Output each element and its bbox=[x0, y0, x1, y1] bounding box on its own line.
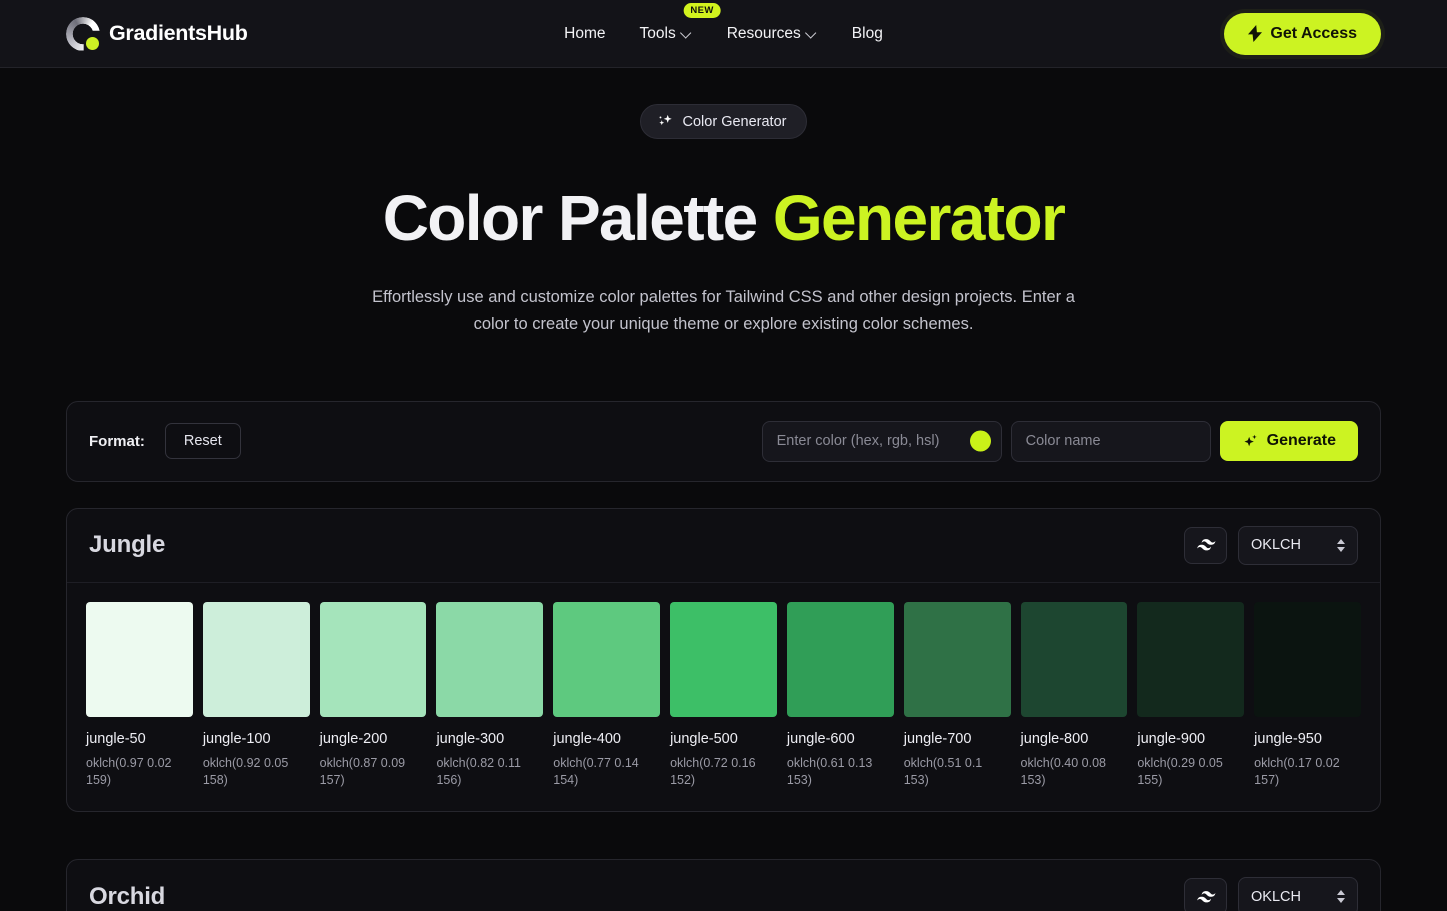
swatch-value: oklch(0.77 0.14 154) bbox=[553, 755, 660, 789]
format-select-jungle[interactable]: OKLCH bbox=[1238, 526, 1358, 565]
color-input-group bbox=[762, 421, 1002, 462]
generate-button[interactable]: Generate bbox=[1220, 421, 1358, 461]
bolt-icon bbox=[1248, 25, 1262, 42]
main-navigation: Home Tools NEW Resources Blog bbox=[564, 19, 883, 49]
chevron-down-icon bbox=[682, 29, 693, 40]
swatch-name: jungle-50 bbox=[86, 731, 193, 747]
swatch-value: oklch(0.87 0.09 157) bbox=[320, 755, 427, 789]
swatch-name: jungle-200 bbox=[320, 731, 427, 747]
swatch-cell[interactable]: jungle-50oklch(0.97 0.02 159) bbox=[86, 602, 193, 789]
swatch-color-chip[interactable] bbox=[320, 602, 427, 717]
swatch-color-chip[interactable] bbox=[1254, 602, 1361, 717]
page-subtitle: Effortlessly use and customize color pal… bbox=[359, 284, 1089, 337]
swatch-value: oklch(0.72 0.16 152) bbox=[670, 755, 777, 789]
control-bar: Format: Reset Generate bbox=[66, 401, 1381, 482]
swatch-cell[interactable]: jungle-900oklch(0.29 0.05 155) bbox=[1137, 602, 1244, 789]
swatch-name: jungle-100 bbox=[203, 731, 310, 747]
swatch-color-chip[interactable] bbox=[436, 602, 543, 717]
tailwind-icon bbox=[1196, 538, 1216, 552]
chevron-updown-icon bbox=[1337, 539, 1345, 552]
control-bar-right: Generate bbox=[762, 421, 1358, 462]
palette-card-orchid: Orchid OKLCH bbox=[66, 859, 1381, 911]
palette-actions: OKLCH bbox=[1184, 526, 1358, 565]
reset-button[interactable]: Reset bbox=[165, 423, 241, 459]
swatch-color-chip[interactable] bbox=[553, 602, 660, 717]
swatch-value: oklch(0.92 0.05 158) bbox=[203, 755, 310, 789]
page-title-accent: Generator bbox=[773, 182, 1064, 254]
palette-card-jungle: Jungle OKLCH jungle-50oklch(0.97 0.02 15… bbox=[66, 508, 1381, 812]
swatch-value: oklch(0.29 0.05 155) bbox=[1137, 755, 1244, 789]
get-access-button[interactable]: Get Access bbox=[1224, 13, 1381, 55]
swatch-value: oklch(0.40 0.08 153) bbox=[1021, 755, 1128, 789]
nav-item-tools[interactable]: Tools NEW bbox=[640, 19, 693, 49]
format-select-value: OKLCH bbox=[1251, 537, 1301, 553]
page-title-main: Color Palette bbox=[383, 182, 773, 254]
swatch-cell[interactable]: jungle-400oklch(0.77 0.14 154) bbox=[553, 602, 660, 789]
swatch-cell[interactable]: jungle-800oklch(0.40 0.08 153) bbox=[1021, 602, 1128, 789]
swatch-value: oklch(0.17 0.02 157) bbox=[1254, 755, 1361, 789]
reset-label: Reset bbox=[184, 433, 222, 449]
swatch-cell[interactable]: jungle-700oklch(0.51 0.1 153) bbox=[904, 602, 1011, 789]
palette-title: Jungle bbox=[89, 531, 165, 559]
color-name-input[interactable] bbox=[1011, 421, 1211, 462]
color-input[interactable] bbox=[762, 421, 1002, 462]
swatch-color-chip[interactable] bbox=[203, 602, 310, 717]
swatch-name: jungle-500 bbox=[670, 731, 777, 747]
brand-name: GradientsHub bbox=[109, 21, 248, 46]
palette-header: Orchid OKLCH bbox=[67, 860, 1380, 911]
nav-item-blog[interactable]: Blog bbox=[852, 19, 883, 49]
palette-title: Orchid bbox=[89, 883, 165, 911]
chevron-updown-icon bbox=[1337, 890, 1345, 903]
swatch-color-chip[interactable] bbox=[1021, 602, 1128, 717]
format-select-orchid[interactable]: OKLCH bbox=[1238, 877, 1358, 911]
nav-item-home[interactable]: Home bbox=[564, 19, 605, 49]
color-generator-badge[interactable]: Color Generator bbox=[640, 104, 808, 139]
swatch-grid: jungle-50oklch(0.97 0.02 159)jungle-100o… bbox=[67, 583, 1380, 811]
palette-actions: OKLCH bbox=[1184, 877, 1358, 911]
swatch-cell[interactable]: jungle-300oklch(0.82 0.11 156) bbox=[436, 602, 543, 789]
swatch-name: jungle-700 bbox=[904, 731, 1011, 747]
generate-label: Generate bbox=[1267, 432, 1336, 450]
gradientshub-logo-icon bbox=[66, 17, 100, 51]
swatch-color-chip[interactable] bbox=[670, 602, 777, 717]
tailwind-export-button[interactable] bbox=[1184, 527, 1227, 564]
palette-header: Jungle OKLCH bbox=[67, 509, 1380, 583]
swatch-color-chip[interactable] bbox=[1137, 602, 1244, 717]
nav-label-blog: Blog bbox=[852, 25, 883, 43]
nav-label-tools: Tools bbox=[640, 25, 676, 43]
swatch-value: oklch(0.82 0.11 156) bbox=[436, 755, 543, 789]
new-badge: NEW bbox=[683, 3, 720, 19]
swatch-color-chip[interactable] bbox=[787, 602, 894, 717]
nav-item-resources[interactable]: Resources bbox=[727, 19, 818, 49]
hero-section: Color Generator Color Palette Generator … bbox=[0, 68, 1447, 337]
nav-label-resources: Resources bbox=[727, 25, 801, 43]
swatch-name: jungle-300 bbox=[436, 731, 543, 747]
swatch-cell[interactable]: jungle-500oklch(0.72 0.16 152) bbox=[670, 602, 777, 789]
color-generator-badge-label: Color Generator bbox=[683, 114, 787, 130]
chevron-down-icon bbox=[807, 29, 818, 40]
swatch-value: oklch(0.61 0.13 153) bbox=[787, 755, 894, 789]
swatch-cell[interactable]: jungle-950oklch(0.17 0.02 157) bbox=[1254, 602, 1361, 789]
nav-label-home: Home bbox=[564, 25, 605, 43]
swatch-value: oklch(0.97 0.02 159) bbox=[86, 755, 193, 789]
sparkles-icon bbox=[1242, 433, 1259, 450]
site-header: GradientsHub Home Tools NEW Resources Bl… bbox=[0, 0, 1447, 68]
format-label: Format: bbox=[89, 433, 145, 450]
swatch-name: jungle-800 bbox=[1021, 731, 1128, 747]
swatch-name: jungle-600 bbox=[787, 731, 894, 747]
swatch-cell[interactable]: jungle-100oklch(0.92 0.05 158) bbox=[203, 602, 310, 789]
swatch-cell[interactable]: jungle-200oklch(0.87 0.09 157) bbox=[320, 602, 427, 789]
swatch-name: jungle-900 bbox=[1137, 731, 1244, 747]
swatch-name: jungle-400 bbox=[553, 731, 660, 747]
page-title: Color Palette Generator bbox=[0, 185, 1447, 252]
format-select-value: OKLCH bbox=[1251, 889, 1301, 905]
sparkles-icon bbox=[657, 113, 674, 130]
color-swatch-picker[interactable] bbox=[970, 431, 991, 452]
swatch-color-chip[interactable] bbox=[904, 602, 1011, 717]
brand-logo[interactable]: GradientsHub bbox=[66, 17, 248, 51]
swatch-cell[interactable]: jungle-600oklch(0.61 0.13 153) bbox=[787, 602, 894, 789]
tailwind-icon bbox=[1196, 890, 1216, 904]
tailwind-export-button[interactable] bbox=[1184, 878, 1227, 911]
swatch-name: jungle-950 bbox=[1254, 731, 1361, 747]
swatch-color-chip[interactable] bbox=[86, 602, 193, 717]
swatch-value: oklch(0.51 0.1 153) bbox=[904, 755, 1011, 789]
get-access-label: Get Access bbox=[1270, 25, 1357, 43]
